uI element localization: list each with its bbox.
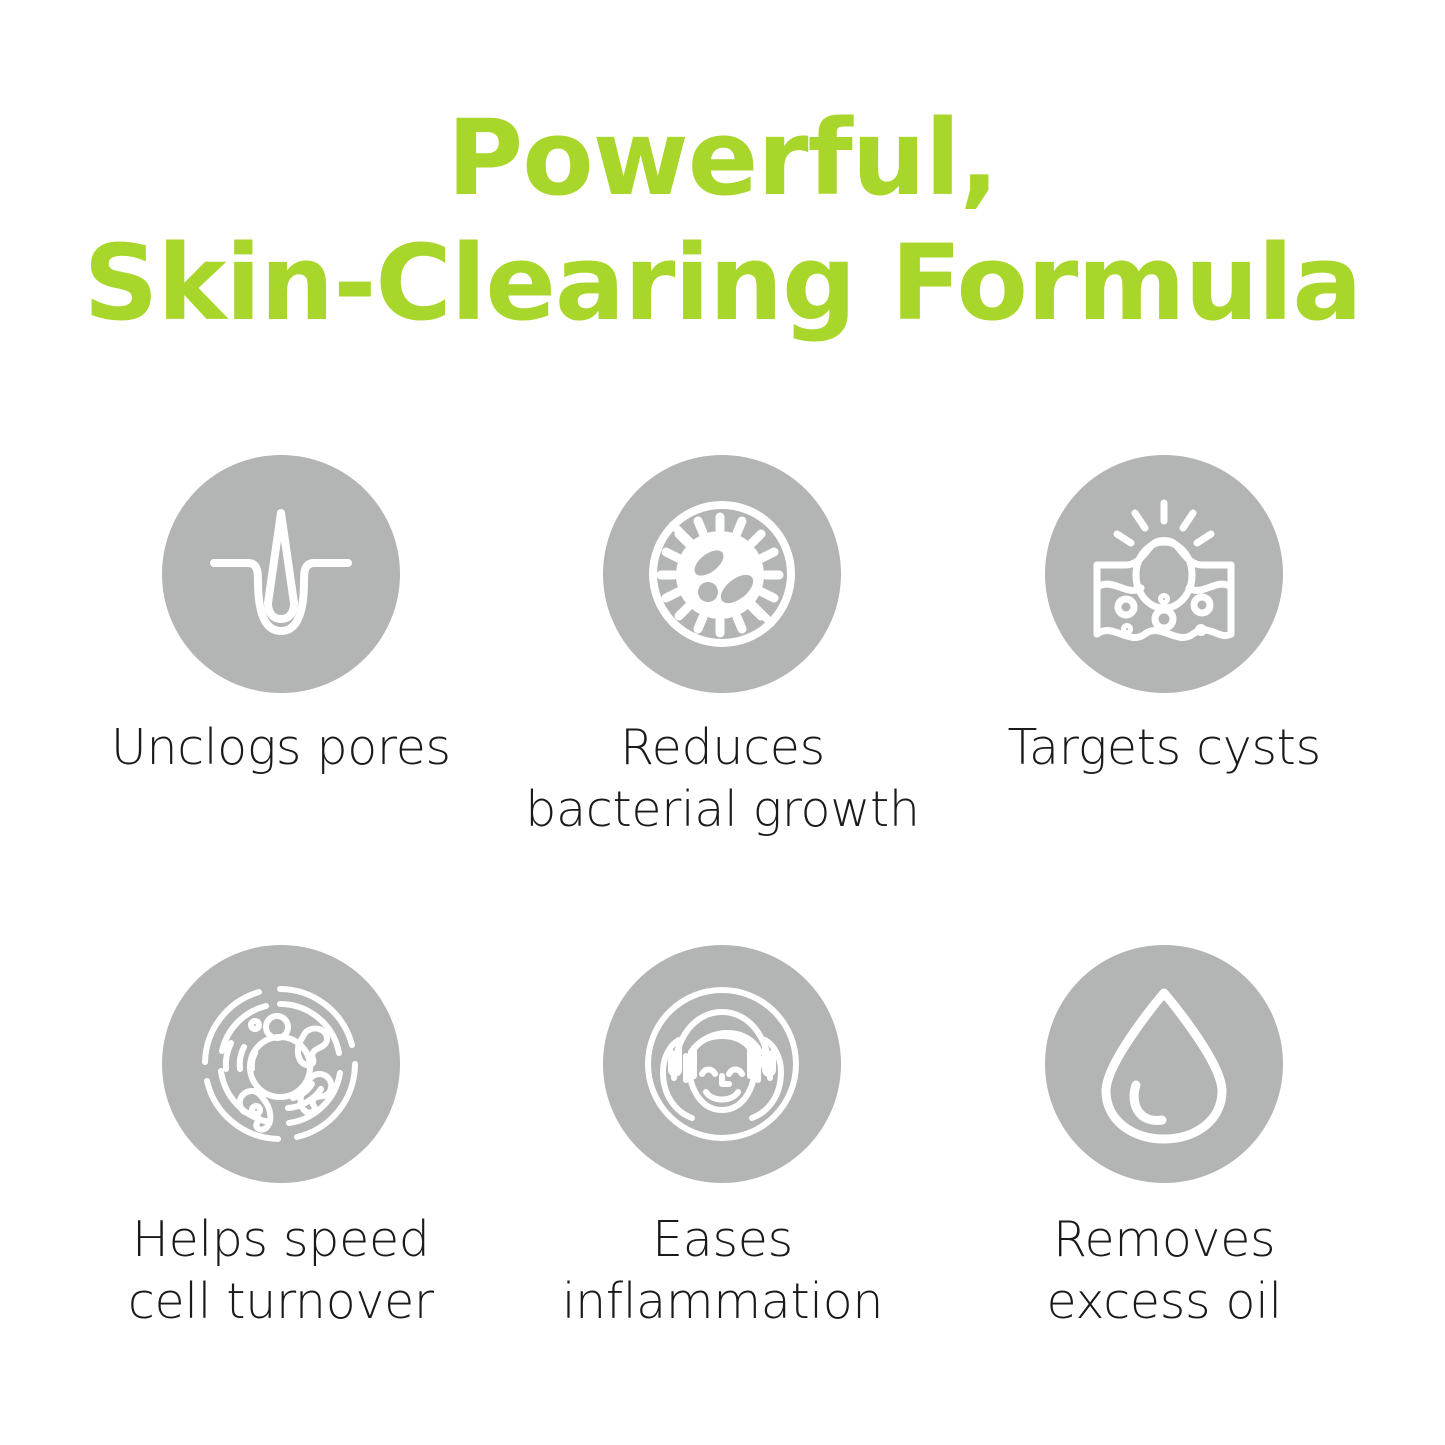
feature-icon-badge	[162, 455, 400, 693]
feature-icon-badge	[603, 945, 841, 1183]
page-title: Powerful, Skin-Clearing Formula	[0, 96, 1445, 346]
feature-item-targets-cysts: Targets cysts	[943, 455, 1385, 945]
feature-caption: Targets cysts	[1008, 717, 1321, 779]
feature-item-removes-excess-oil: Removes excess oil	[943, 945, 1385, 1435]
feature-item-unclogs-pores: Unclogs pores	[60, 455, 502, 945]
skin-cyst-icon	[1079, 489, 1249, 659]
feature-icon-badge	[1045, 945, 1283, 1183]
oil-droplet-icon	[1084, 979, 1244, 1149]
feature-icon-badge	[603, 455, 841, 693]
feature-item-eases-inflammation: Eases inflammation	[502, 945, 944, 1435]
marketing-infographic: Powerful, Skin-Clearing Formula	[0, 0, 1445, 1445]
feature-icon-badge	[162, 945, 400, 1183]
feature-icon-badge	[1045, 455, 1283, 693]
feature-item-reduces-bacterial-growth: Reduces bacterial growth	[502, 455, 944, 945]
feature-caption: Helps speed cell turnover	[128, 1209, 434, 1333]
feature-item-helps-speed-cell-turnover: Helps speed cell turnover	[60, 945, 502, 1435]
skin-cell-icon	[193, 977, 368, 1152]
calm-face-hands-icon	[636, 978, 808, 1150]
feature-caption: Eases inflammation	[562, 1209, 883, 1333]
feature-caption: Unclogs pores	[111, 717, 451, 779]
feature-caption: Reduces bacterial growth	[525, 717, 919, 841]
no-bacteria-icon	[637, 489, 807, 659]
pore-follicle-icon	[196, 489, 366, 659]
feature-grid: Unclogs pores	[60, 455, 1385, 1435]
feature-caption: Removes excess oil	[1046, 1209, 1281, 1333]
